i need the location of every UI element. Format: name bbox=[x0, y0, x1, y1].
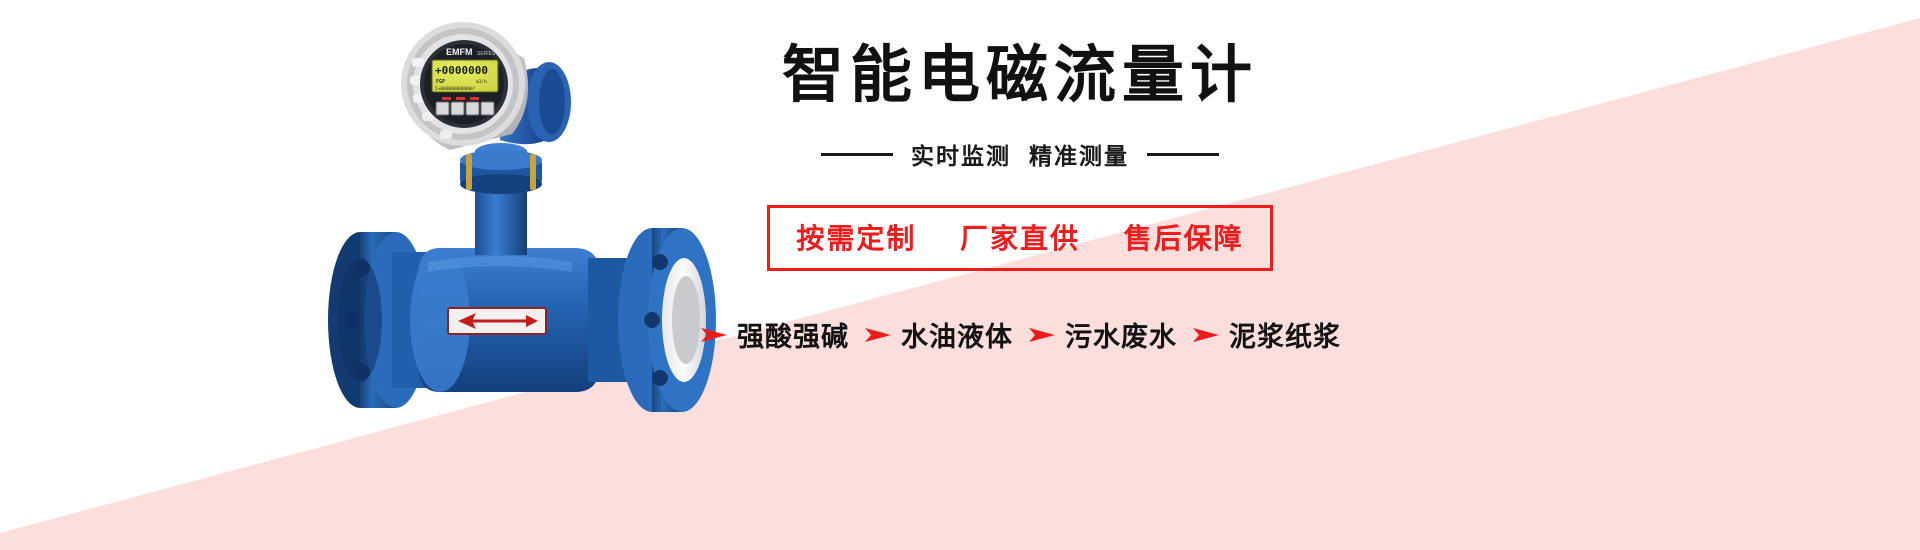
right-arrow-icon bbox=[699, 325, 729, 345]
feature-label-4: 泥浆纸浆 bbox=[1229, 315, 1341, 354]
promo-item-2: 厂家直供 bbox=[960, 223, 1080, 254]
feature-item-4: 泥浆纸浆 bbox=[1191, 315, 1341, 354]
promo-item-1: 按需定制 bbox=[796, 223, 916, 254]
transmitter-brand-text: EMFM bbox=[446, 47, 473, 57]
right-arrow-icon bbox=[863, 325, 893, 345]
lcd-main-value: +0000000 bbox=[435, 64, 488, 77]
transmitter-head: EMFM SERIES +0000000 FGP m3/h Σ+00000000… bbox=[401, 22, 571, 150]
feature-list: 强酸强碱 水油液体 污水废水 泥浆纸浆 bbox=[640, 315, 1400, 354]
feature-item-1: 强酸强碱 bbox=[699, 315, 849, 354]
promo-badge: 按需定制 厂家直供 售后保障 bbox=[767, 205, 1272, 271]
promo-item-3: 售后保障 bbox=[1124, 223, 1244, 254]
subtitle-row: 实时监测 精准测量 bbox=[640, 137, 1400, 171]
lcd-total-value: Σ+00000000000m³ bbox=[435, 86, 476, 92]
transmitter-model-text: SERIES bbox=[477, 51, 496, 57]
right-arrow-icon bbox=[1191, 325, 1221, 345]
neck-flange bbox=[460, 150, 542, 194]
feature-label-3: 污水废水 bbox=[1065, 315, 1177, 354]
promo-wrap: 按需定制 厂家直供 售后保障 bbox=[640, 205, 1400, 271]
feature-item-3: 污水废水 bbox=[1027, 315, 1177, 354]
feature-item-2: 水油液体 bbox=[863, 315, 1013, 354]
lcd-display: +0000000 FGP m3/h Σ+00000000000m³ bbox=[432, 60, 498, 92]
rule-left bbox=[821, 153, 893, 156]
lcd-unit-right: m3/h bbox=[476, 79, 487, 85]
feature-label-2: 水油液体 bbox=[901, 315, 1013, 354]
transmitter-neck bbox=[460, 143, 542, 255]
subtitle-right: 精准测量 bbox=[1029, 137, 1129, 171]
transmitter-faceplate: EMFM SERIES +0000000 FGP m3/h Σ+00000000… bbox=[420, 40, 508, 128]
right-arrow-icon bbox=[1027, 325, 1057, 345]
product-banner: EMFM SERIES +0000000 FGP m3/h Σ+00000000… bbox=[0, 0, 1920, 550]
subtitle-left: 实时监测 bbox=[911, 137, 1011, 171]
feature-label-1: 强酸强碱 bbox=[737, 315, 849, 354]
lcd-unit-left: FGP bbox=[436, 79, 445, 85]
rule-right bbox=[1147, 153, 1219, 156]
flow-direction-arrow-plate bbox=[448, 308, 546, 334]
page-title: 智能电磁流量计 bbox=[640, 40, 1400, 111]
banner-copy-column: 智能电磁流量计 实时监测 精准测量 按需定制 厂家直供 售后保障 强酸强碱 bbox=[640, 40, 1400, 354]
